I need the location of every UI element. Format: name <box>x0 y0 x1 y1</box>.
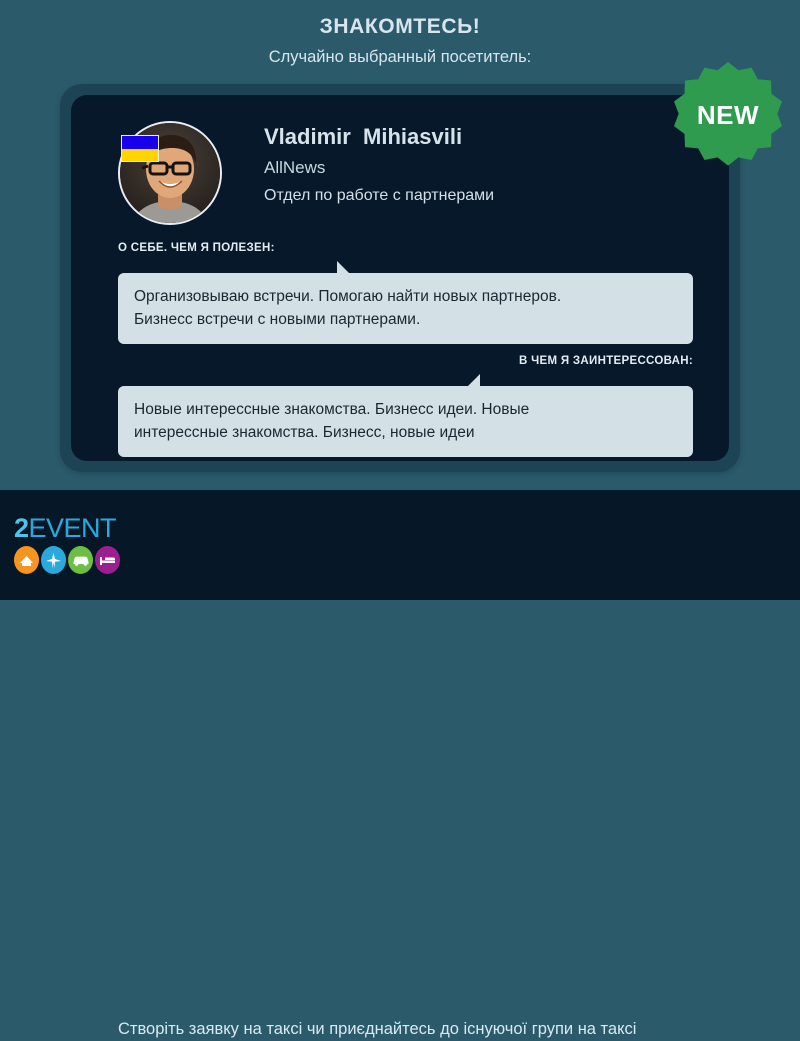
brand-logo[interactable]: 2EVENT <box>14 514 118 576</box>
profile-name: Vladimir Mihiasvili <box>264 123 694 151</box>
footer-text: Створіть заявку на таксі чи приєднайтесь… <box>118 1017 788 1041</box>
section-about-text: Организовываю встречи. Помогаю найти нов… <box>134 285 677 331</box>
brand-logo-2: 2 <box>14 513 29 543</box>
section-interests: В ЧЕМ Я ЗАИНТЕРЕССОВАН: Новые интерессны… <box>118 354 693 457</box>
footer-bar: 2EVENT <box>0 490 800 600</box>
section-interests-text: Новые интерессные знакомства. Бизнесс ид… <box>134 398 677 444</box>
new-badge-label: NEW <box>673 60 783 170</box>
car-icon <box>68 546 93 574</box>
bubble-tail-icon <box>337 261 350 274</box>
flag-stripe-yellow <box>122 149 158 162</box>
profile-header: Vladimir Mihiasvili AllNews Отдел по раб… <box>118 121 698 231</box>
section-about-bubble: Организовываю встречи. Помогаю найти нов… <box>118 273 693 344</box>
brand-logo-wordmark: 2EVENT <box>14 514 118 542</box>
section-interests-bubble: Новые интерессные знакомства. Бизнесс ид… <box>118 386 693 457</box>
profile-company: AllNews <box>264 151 694 180</box>
avatar-container <box>118 121 222 225</box>
brand-logo-event: EVENT <box>29 513 117 543</box>
profile-details: Vladimir Mihiasvili AllNews Отдел по раб… <box>264 123 694 208</box>
profile-role: Отдел по работе с партнерами <box>264 180 694 208</box>
airplane-icon <box>41 546 66 574</box>
ticket-icon <box>14 546 39 574</box>
ukraine-flag-icon <box>121 135 159 162</box>
section-interests-label: В ЧЕМ Я ЗАИНТЕРЕССОВАН: <box>118 354 693 368</box>
profile-card-frame: Vladimir Mihiasvili AllNews Отдел по раб… <box>60 84 740 472</box>
poster-canvas: ЗНАКОМТЕСЬ! Случайно выбранный посетител… <box>0 0 800 600</box>
profile-card: Vladimir Mihiasvili AllNews Отдел по раб… <box>71 95 729 461</box>
section-about: О СЕБЕ. ЧЕМ Я ПОЛЕЗЕН: Организовываю вст… <box>118 241 693 344</box>
new-badge: NEW <box>673 60 783 170</box>
page-title: ЗНАКОМТЕСЬ! <box>0 0 800 40</box>
flag-stripe-blue <box>122 136 158 149</box>
bed-icon <box>95 546 120 574</box>
section-about-label: О СЕБЕ. ЧЕМ Я ПОЛЕЗЕН: <box>118 241 693 255</box>
brand-logo-icons <box>14 546 120 574</box>
bubble-tail-icon <box>467 374 480 387</box>
